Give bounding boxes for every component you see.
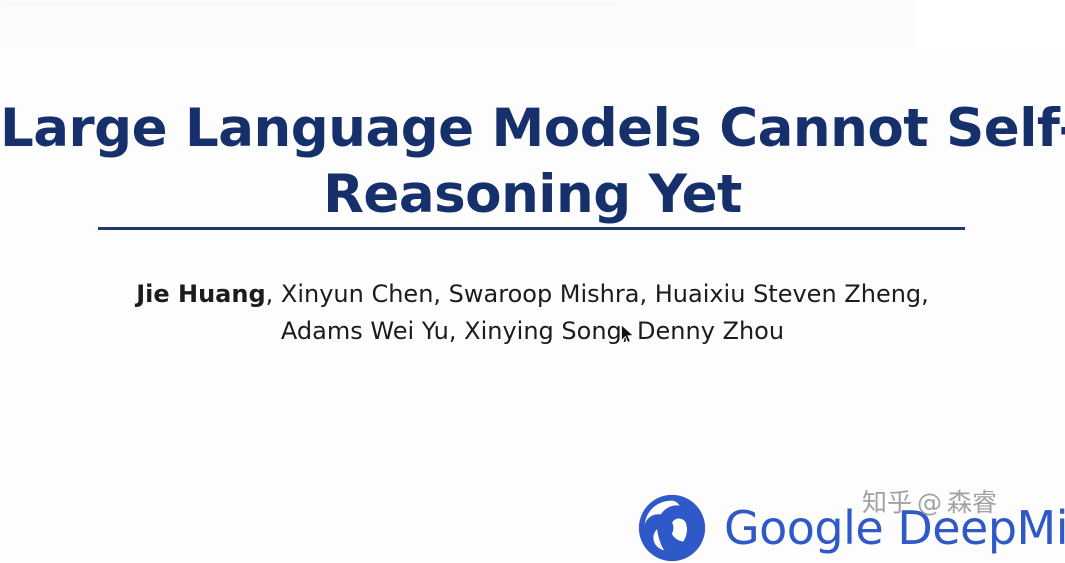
zhihu-watermark: 知乎@森睿 <box>862 487 997 519</box>
google-deepmind-logo: Google DeepMind <box>636 492 1065 563</box>
author-line-1: Jie Huang, Xinyun Chen, Swaroop Mishra, … <box>0 276 1065 313</box>
top-hairline <box>6 2 616 4</box>
author-list: Jie Huang, Xinyun Chen, Swaroop Mishra, … <box>0 276 1065 350</box>
watermark-user: 森睿 <box>947 488 997 517</box>
slide-title: Large Language Models Cannot Self-Correc… <box>0 96 1065 228</box>
google-deepmind-spiral-icon <box>636 492 708 563</box>
author-line-1-rest: , Xinyun Chen, Swaroop Mishra, Huaixiu S… <box>266 280 929 308</box>
top-panel-left <box>0 0 916 49</box>
presentation-slide: Large Language Models Cannot Self-Correc… <box>0 0 1065 563</box>
lead-author-name: Jie Huang <box>136 280 265 308</box>
author-line-2: Adams Wei Yu, Xinying Song, Denny Zhou <box>0 313 1065 350</box>
top-panel-right <box>916 0 1065 48</box>
title-line-1: Large Language Models Cannot Self-Correc… <box>0 96 1065 162</box>
watermark-site: 知乎 <box>862 488 912 517</box>
title-divider-rule <box>98 227 965 230</box>
watermark-separator: @ <box>917 488 942 517</box>
title-line-2: Reasoning Yet <box>0 162 1065 228</box>
